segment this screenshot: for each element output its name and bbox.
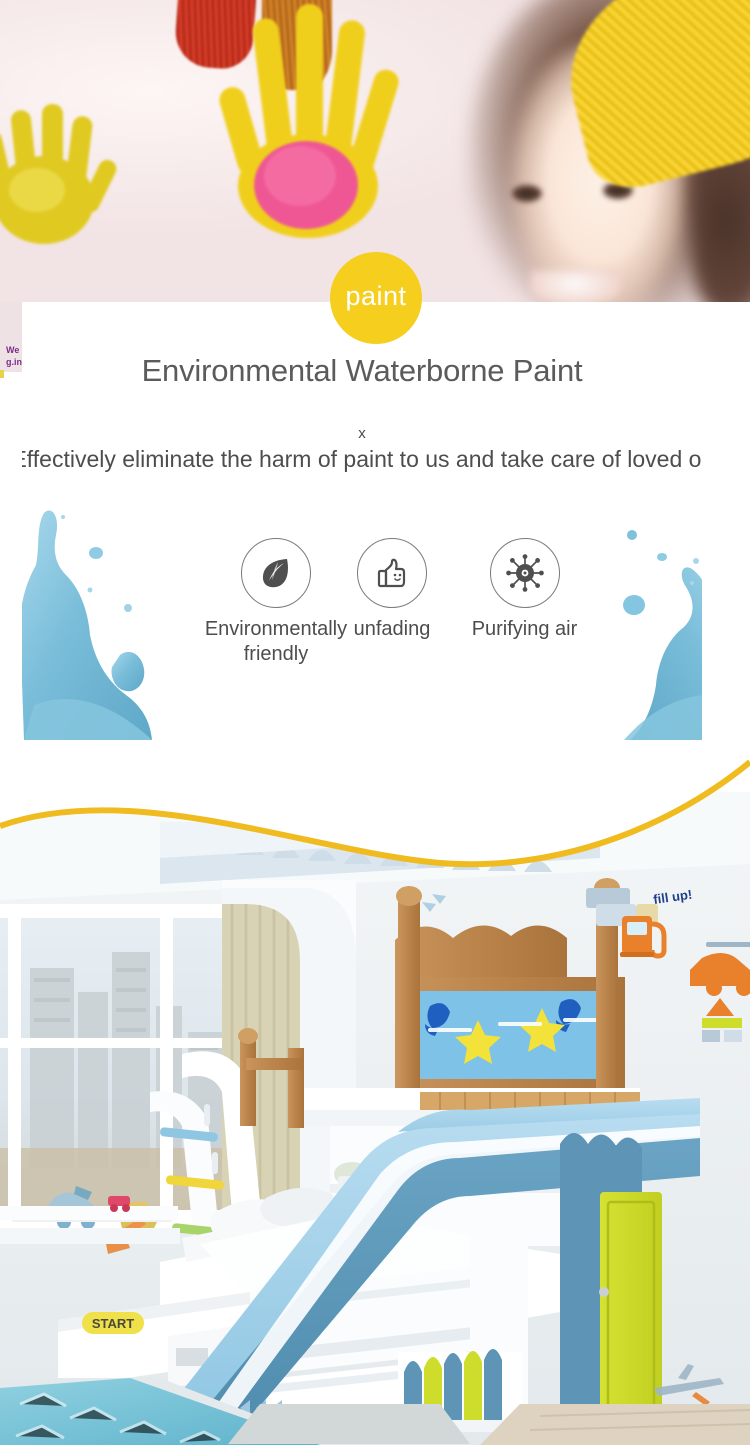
feature-icon-ring bbox=[241, 538, 311, 608]
paint-info-panel: Environmental Waterborne Paint x Effecti… bbox=[22, 302, 702, 740]
background-yellow-accent bbox=[0, 370, 4, 378]
feature-icon-ring bbox=[357, 538, 427, 608]
bedroom-illustration: fill up! bbox=[0, 792, 750, 1445]
bedroom-photo: fill up! bbox=[0, 792, 750, 1445]
page-subtitle: Effectively eliminate the harm of paint … bbox=[22, 446, 702, 473]
feature-label: Purifying air bbox=[447, 617, 602, 642]
product-marketing-page: We g.in bbox=[0, 0, 750, 1445]
wardrobe-knob bbox=[599, 1287, 609, 1297]
thumbs-up-icon bbox=[373, 554, 411, 592]
feature-label: unfading bbox=[327, 617, 457, 642]
pink-palm-handprint bbox=[196, 0, 426, 240]
paint-badge: paint bbox=[330, 252, 422, 344]
paint-badge-label: paint bbox=[345, 283, 406, 313]
child-eye-left bbox=[512, 185, 542, 202]
yellow-handprint bbox=[0, 72, 132, 247]
child-smile bbox=[530, 270, 620, 302]
feature-list: Environmentally friendly unfading bbox=[202, 538, 602, 698]
page-title: Environmental Waterborne Paint bbox=[22, 353, 702, 389]
x-mark: x bbox=[22, 425, 702, 442]
start-decal-text: START bbox=[92, 1316, 134, 1331]
feature-item-purifying-air: Purifying air bbox=[447, 538, 602, 642]
feature-icon-ring bbox=[490, 538, 560, 608]
start-sign-icon: START bbox=[82, 1312, 144, 1334]
leaf-icon bbox=[257, 554, 295, 592]
virus-germ-icon bbox=[505, 553, 545, 593]
wardrobe-door bbox=[600, 1192, 662, 1424]
feature-item-unfading: unfading bbox=[327, 538, 457, 642]
blue-paint-splash-left bbox=[22, 505, 224, 740]
